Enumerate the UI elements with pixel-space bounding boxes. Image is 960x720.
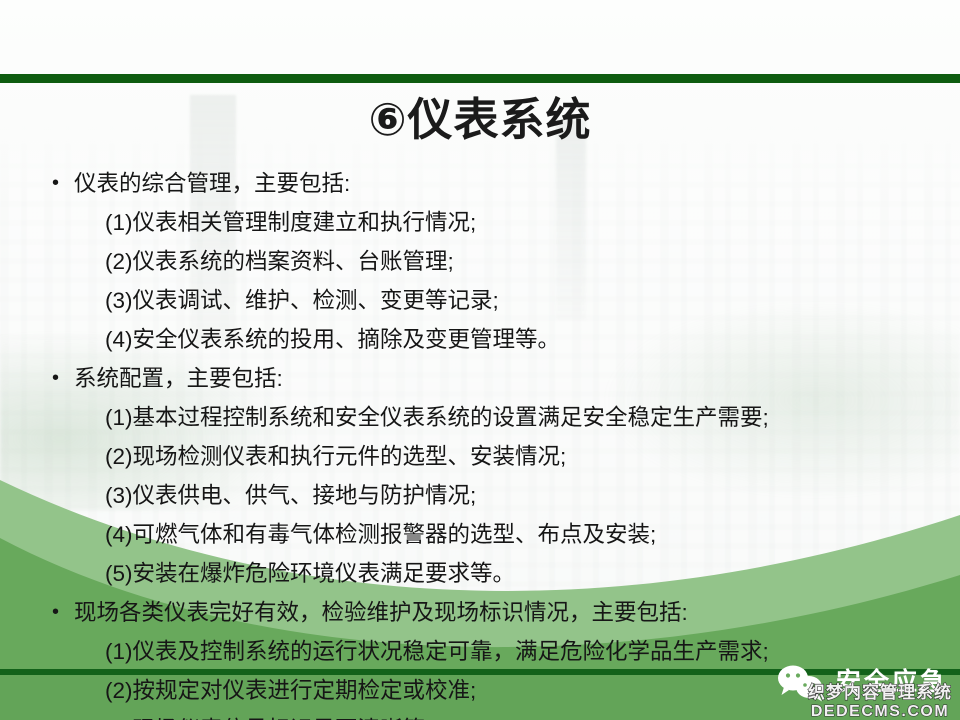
bullet-heading-label: 系统配置，主要包括: (74, 359, 960, 398)
wechat-icon (775, 662, 827, 702)
list-item: (3)现场仪表位号标识是否清晰等。 (0, 710, 960, 720)
bullet-heading: • 仪表的综合管理，主要包括: (0, 164, 960, 203)
page-title: ⑥仪表系统 (0, 96, 960, 143)
list-item: (2)仪表系统的档案资料、台账管理; (0, 242, 960, 281)
list-item: (3)仪表调试、维护、检测、变更等记录; (0, 281, 960, 320)
list-item: (4)可燃气体和有毒气体检测报警器的选型、布点及安装; (0, 515, 960, 554)
slide-canvas: ⑥仪表系统 • 仪表的综合管理，主要包括: (1)仪表相关管理制度建立和执行情况… (0, 0, 960, 720)
list-item: (5)安装在爆炸危险环境仪表满足要求等。 (0, 554, 960, 593)
list-item: (1)基本过程控制系统和安全仪表系统的设置满足安全稳定生产需要; (0, 398, 960, 437)
bullet-dot-icon: • (52, 164, 74, 203)
bullet-group: • 系统配置，主要包括: (1)基本过程控制系统和安全仪表系统的设置满足安全稳定… (0, 359, 960, 593)
list-item: (3)仪表供电、供气、接地与防护情况; (0, 476, 960, 515)
bullet-heading-label: 仪表的综合管理，主要包括: (74, 164, 960, 203)
bullet-dot-icon: • (52, 359, 74, 398)
bullet-heading: • 现场各类仪表完好有效，检验维护及现场标识情况，主要包括: (0, 593, 960, 632)
bullet-group: • 仪表的综合管理，主要包括: (1)仪表相关管理制度建立和执行情况; (2)仪… (0, 164, 960, 359)
list-item: (1)仪表相关管理制度建立和执行情况; (0, 203, 960, 242)
bullet-heading: • 系统配置，主要包括: (0, 359, 960, 398)
top-divider-rule (0, 74, 960, 83)
bullet-heading-label: 现场各类仪表完好有效，检验维护及现场标识情况，主要包括: (74, 593, 960, 632)
content-body: • 仪表的综合管理，主要包括: (1)仪表相关管理制度建立和执行情况; (2)仪… (0, 164, 960, 720)
logo-label: 安全应急 (836, 670, 948, 695)
wechat-account-logo: 安全应急 (775, 662, 948, 702)
list-item: (2)现场检测仪表和执行元件的选型、安装情况; (0, 437, 960, 476)
bullet-dot-icon: • (52, 593, 74, 632)
list-item: (4)安全仪表系统的投用、摘除及变更管理等。 (0, 320, 960, 359)
